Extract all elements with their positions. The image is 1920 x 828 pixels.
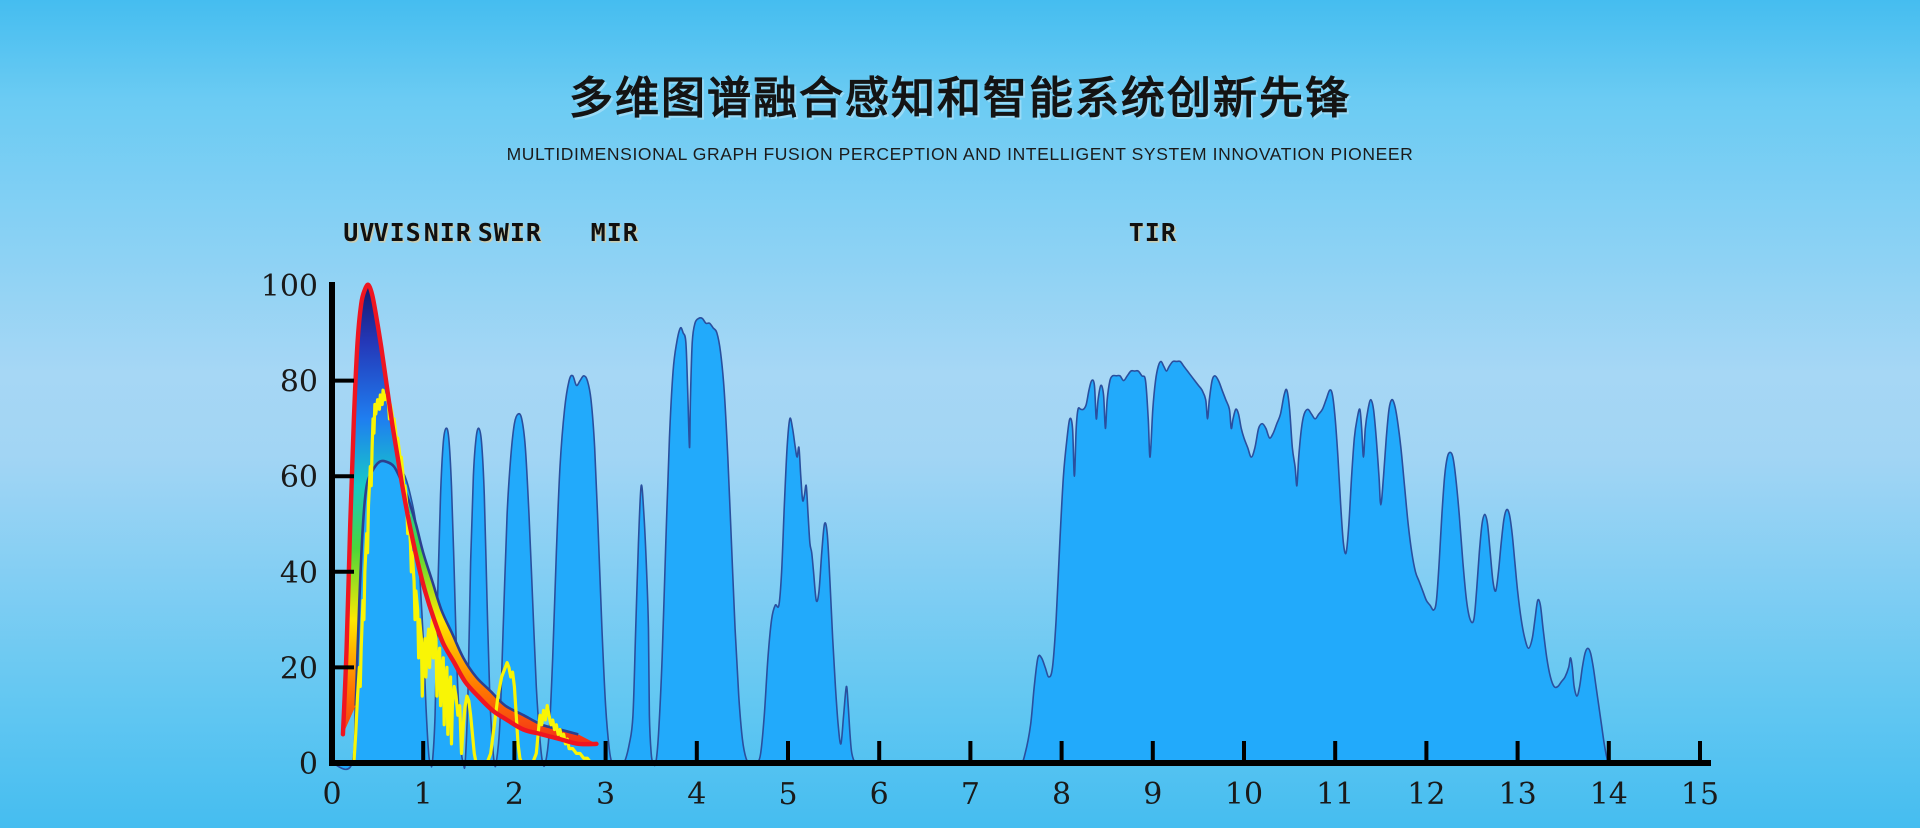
- y-tick-label: 0: [299, 747, 318, 782]
- x-tick-label: 12: [1407, 777, 1445, 812]
- spectrum-chart-svg: 0204060801000123456789101112131415: [0, 0, 1920, 828]
- x-tick-label: 0: [322, 777, 341, 812]
- y-tick-label: 80: [280, 365, 318, 400]
- atmospheric-transmission-area: [332, 318, 1700, 770]
- x-tick-label: 6: [870, 777, 889, 812]
- x-tick-label: 4: [687, 777, 706, 812]
- x-tick-label: 13: [1499, 777, 1537, 812]
- spectrum-chart: 0204060801000123456789101112131415: [0, 0, 1920, 828]
- x-tick-label: 8: [1052, 777, 1071, 812]
- y-tick-label: 20: [280, 651, 318, 686]
- y-tick-label: 60: [280, 460, 318, 495]
- x-tick-label: 7: [961, 777, 980, 812]
- transmission-area-group: [332, 318, 1700, 770]
- poster-root: 多维图谱融合感知和智能系统创新先锋 MULTIDIMENSIONAL GRAPH…: [0, 0, 1920, 828]
- y-tick-label: 100: [261, 269, 318, 304]
- x-tick-label: 2: [505, 777, 524, 812]
- x-tick-label: 10: [1225, 777, 1263, 812]
- x-tick-label: 14: [1590, 777, 1628, 812]
- x-tick-label: 5: [778, 777, 797, 812]
- x-tick-label: 15: [1681, 777, 1719, 812]
- x-tick-label: 9: [1143, 777, 1162, 812]
- x-tick-label: 1: [414, 777, 433, 812]
- x-tick-label: 3: [596, 777, 615, 812]
- x-tick-label: 11: [1316, 777, 1354, 812]
- y-tick-label: 40: [280, 556, 318, 591]
